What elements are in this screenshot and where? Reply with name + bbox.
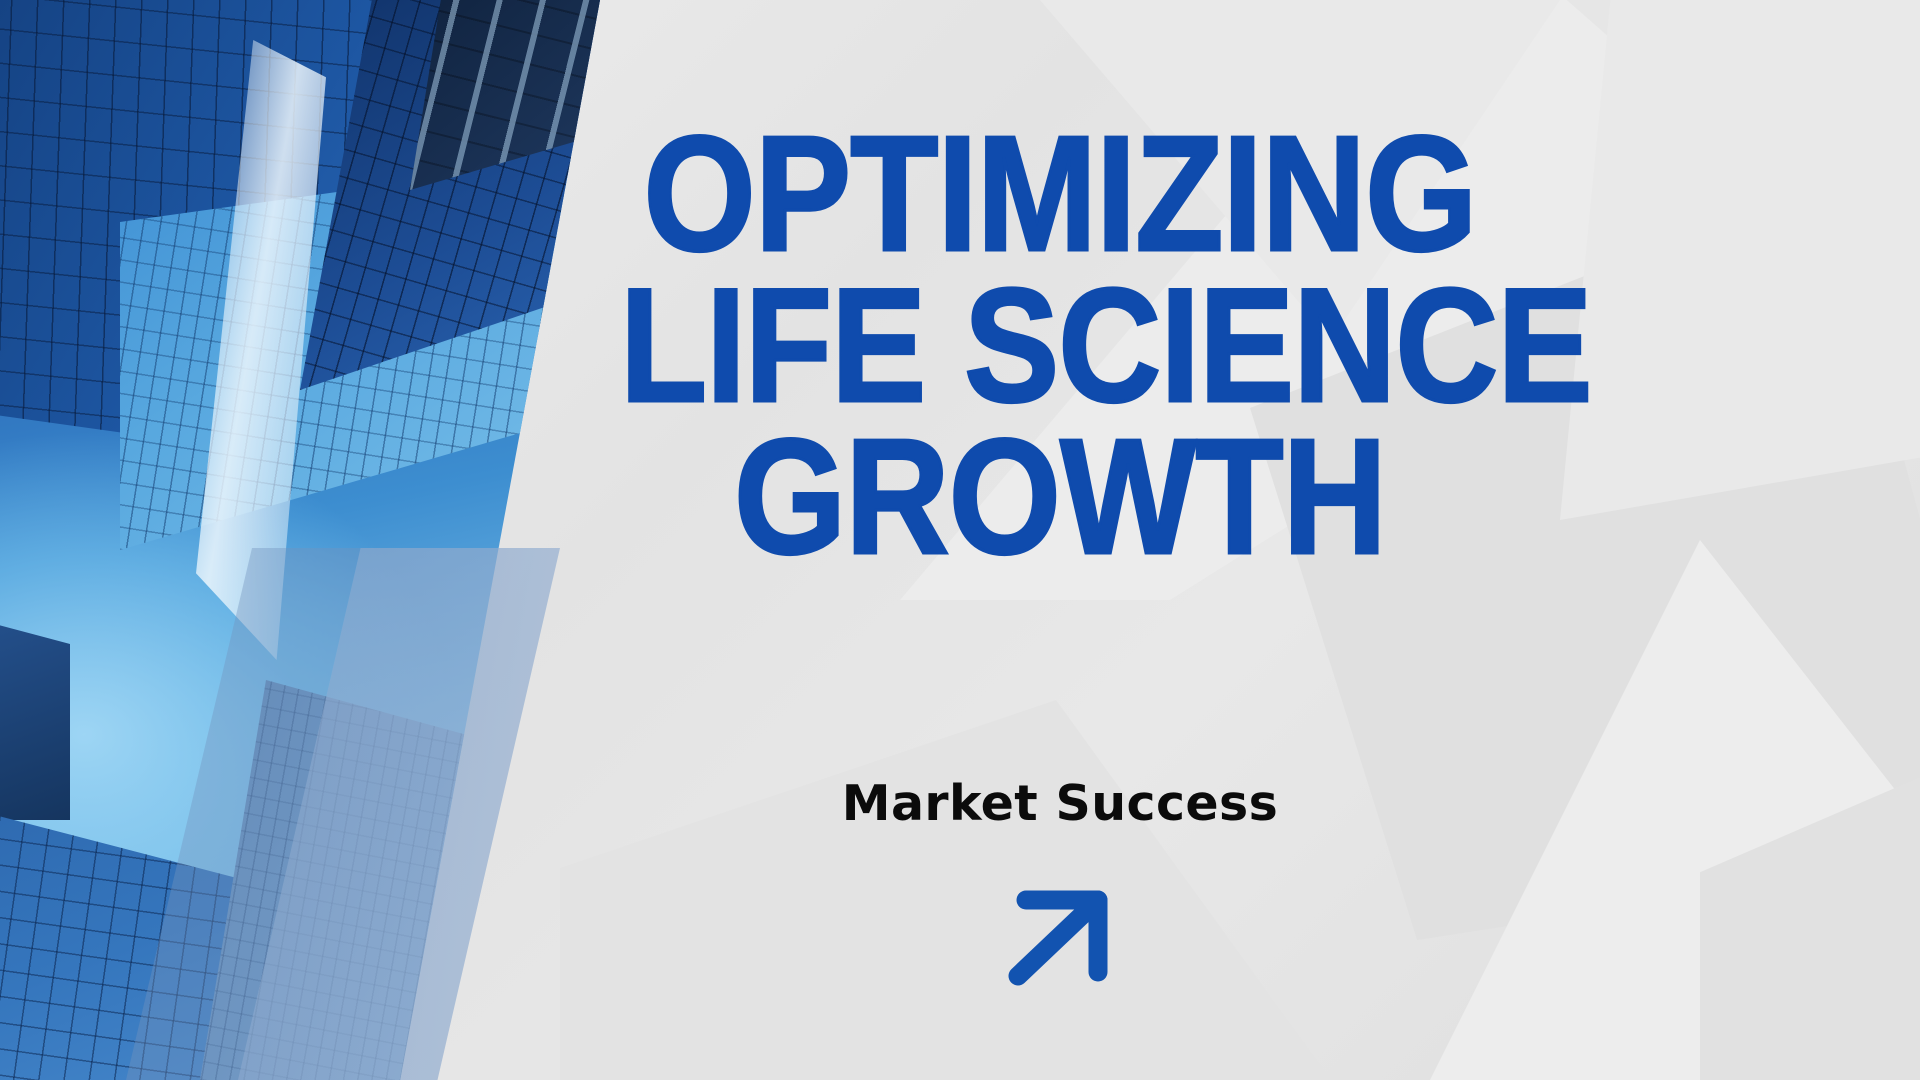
page-title: OPTIMIZING LIFE SCIENCE GROWTH [620,118,1500,574]
arrow-up-right-icon [1000,880,1120,995]
text-content: OPTIMIZING LIFE SCIENCE GROWTH Market Su… [560,0,1920,1080]
headline-line-1: OPTIMIZING [620,118,1500,271]
headline-line-3: GROWTH [620,421,1500,574]
building-lower-left-slab [0,620,70,820]
subtitle: Market Success [560,775,1560,832]
presentation-slide: OPTIMIZING LIFE SCIENCE GROWTH Market Su… [0,0,1920,1080]
arrow-up-right-container [560,880,1560,995]
headline-line-2: LIFE SCIENCE [620,271,1500,422]
